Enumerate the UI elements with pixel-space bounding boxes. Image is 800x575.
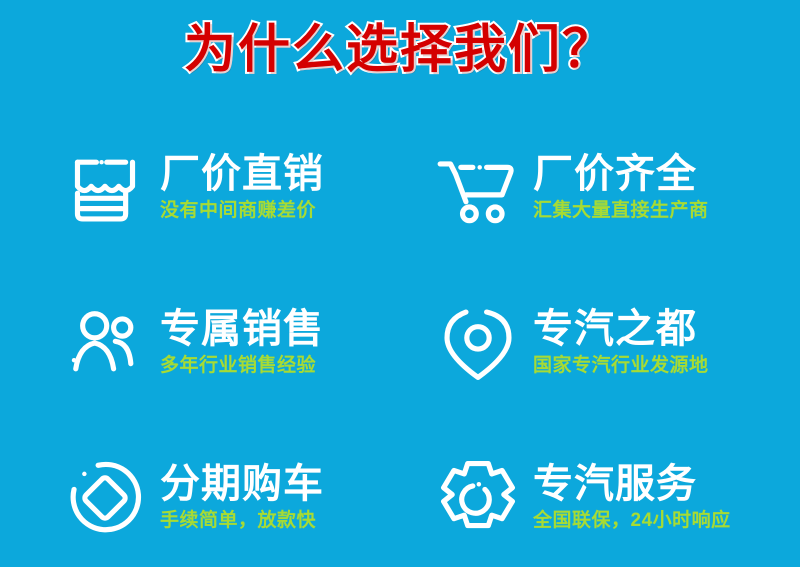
feature-item-full-range: 厂价齐全 汇集大量直接生产商 <box>400 110 800 265</box>
feature-item-auto-capital: 专汽之都 国家专汽行业发源地 <box>400 265 800 420</box>
feature-subtitle: 国家专汽行业发源地 <box>533 356 709 377</box>
feature-heading: 厂价齐全 <box>533 153 709 195</box>
feature-heading: 厂价直销 <box>160 153 324 195</box>
shopping-cart-icon <box>435 145 521 231</box>
feature-subtitle: 手续简单，放款快 <box>160 511 324 532</box>
location-pin-icon <box>435 300 521 386</box>
page-title: 为什么选择我们？ <box>184 22 616 79</box>
feature-heading: 专属销售 <box>160 308 324 350</box>
feature-text: 厂价直销 没有中间商赚差价 <box>160 153 324 222</box>
feature-item-dedicated-sales: 专属销售 多年行业销售经验 <box>0 265 400 420</box>
feature-item-factory-direct: 厂价直销 没有中间商赚差价 <box>0 110 400 265</box>
feature-subtitle: 全国联保，24小时响应 <box>533 511 731 532</box>
feature-text: 专属销售 多年行业销售经验 <box>160 308 324 377</box>
feature-text: 专汽之都 国家专汽行业发源地 <box>533 308 709 377</box>
feature-heading: 专汽之都 <box>533 308 709 350</box>
banner-title-wrap: 为什么选择我们？ <box>0 22 800 79</box>
promo-banner: 为什么选择我们？ 厂价直销 没有中间商赚差价 <box>0 0 800 567</box>
feature-text: 厂价齐全 汇集大量直接生产商 <box>533 153 709 222</box>
feature-subtitle: 汇集大量直接生产商 <box>533 201 709 222</box>
circle-diamond-icon <box>62 455 148 541</box>
two-people-icon <box>62 300 148 386</box>
feature-text: 专汽服务 全国联保，24小时响应 <box>533 463 731 532</box>
feature-item-installment: 分期购车 手续简单，放款快 <box>0 420 400 575</box>
gear-icon <box>435 455 521 541</box>
feature-heading: 分期购车 <box>160 463 324 505</box>
storefront-icon <box>62 145 148 231</box>
feature-subtitle: 没有中间商赚差价 <box>160 201 324 222</box>
feature-grid: 厂价直销 没有中间商赚差价 厂价齐全 汇集大量直接生产商 <box>0 110 800 575</box>
feature-text: 分期购车 手续简单，放款快 <box>160 463 324 532</box>
feature-item-service: 专汽服务 全国联保，24小时响应 <box>400 420 800 575</box>
feature-heading: 专汽服务 <box>533 463 731 505</box>
feature-subtitle: 多年行业销售经验 <box>160 356 324 377</box>
